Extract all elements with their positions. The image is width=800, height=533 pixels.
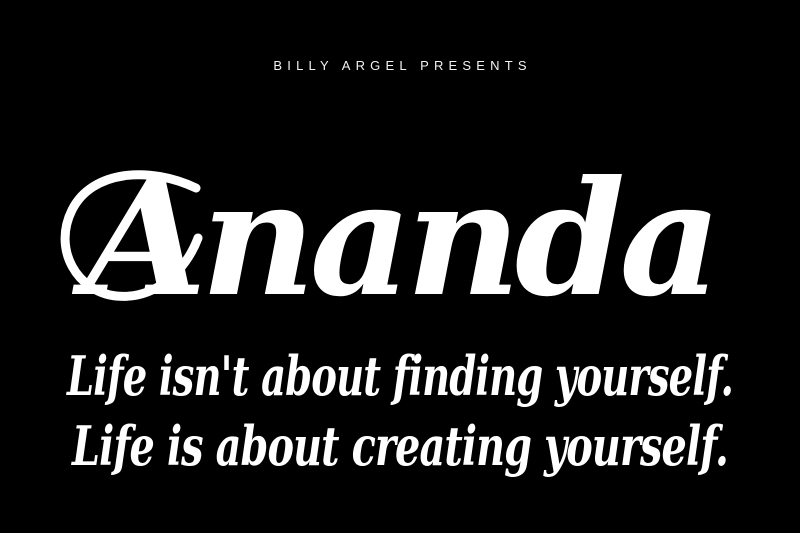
font-name-title-svg: Ananda xyxy=(0,112,800,317)
font-name-title: Ananda xyxy=(0,112,800,317)
presenter-credit-line: BILLY ARGEL PRESENTS xyxy=(0,58,800,74)
tagline-line-1: Life isn't about finding yourself. xyxy=(0,340,800,414)
tagline-line-2-svg: Life is about creating yourself. xyxy=(0,410,800,484)
tagline-line-1-glyphs: Life isn't about finding yourself. xyxy=(66,344,733,408)
tagline-line-1-svg: Life isn't about finding yourself. xyxy=(0,340,800,414)
font-specimen-poster: BILLY ARGEL PRESENTS Ananda Life isn't a… xyxy=(0,0,800,533)
tagline-line-2: Life is about creating yourself. xyxy=(0,410,800,484)
title-glyphs: Ananda xyxy=(71,147,716,317)
tagline-line-2-glyphs: Life is about creating yourself. xyxy=(71,414,728,478)
